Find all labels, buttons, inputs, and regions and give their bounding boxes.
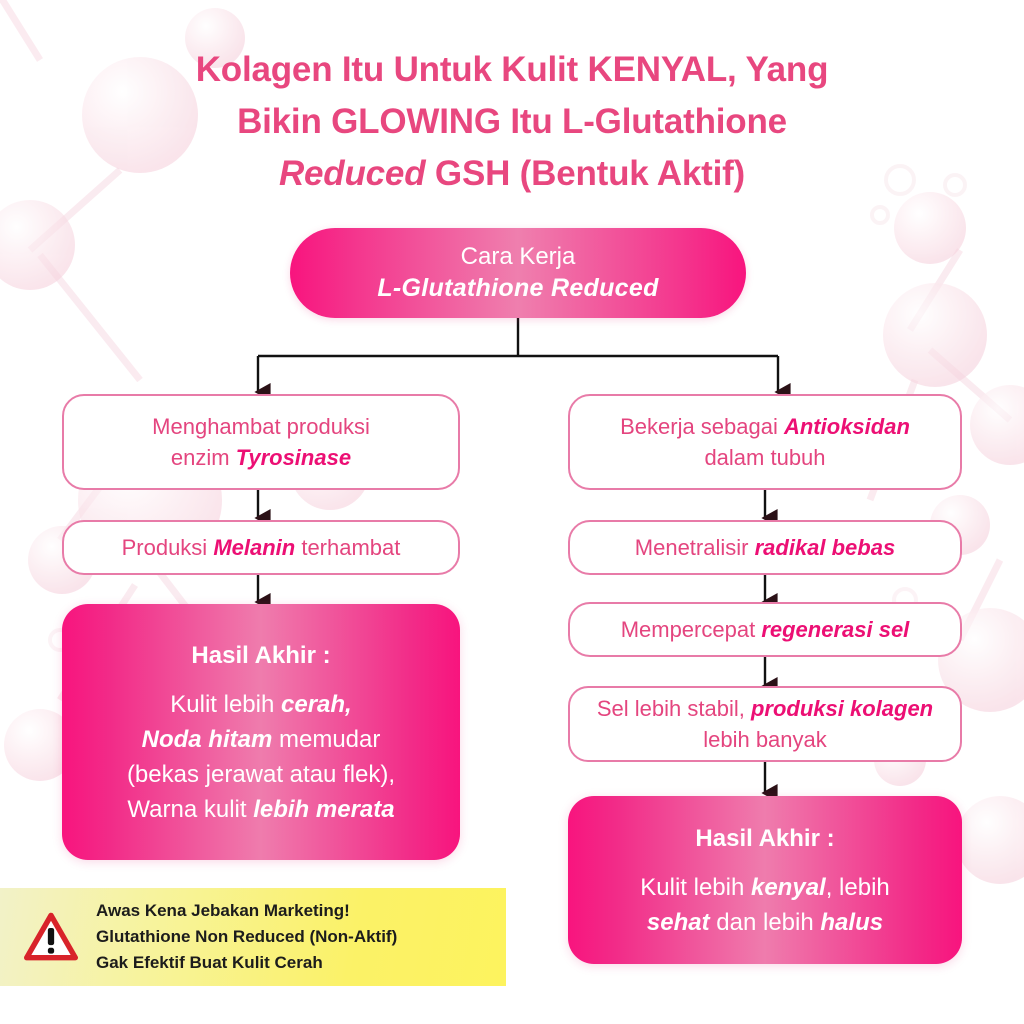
left-step-2-box[interactable]: Produksi Melanin terhambat bbox=[62, 520, 460, 575]
left-step-2-emphasis: Melanin bbox=[213, 535, 295, 560]
left-result-body: Kulit lebih cerah, Noda hitam memudar (b… bbox=[127, 687, 395, 827]
right-step-1-box[interactable]: Bekerja sebagai Antioksidan dalam tubuh bbox=[568, 394, 962, 490]
right-step-1-line2: dalam tubuh bbox=[704, 445, 825, 470]
left-result-l4b: lebih merata bbox=[253, 796, 394, 823]
left-result-l4a: Warna kulit bbox=[127, 796, 253, 823]
right-step-4-suffix: lebih banyak bbox=[703, 727, 827, 752]
title-emphasis-reduced: Reduced bbox=[279, 154, 425, 193]
right-result-l2a: sehat bbox=[647, 909, 710, 936]
right-step-4-prefix: Sel lebih stabil, bbox=[597, 696, 751, 721]
flow-header-line-1: Cara Kerja bbox=[461, 242, 576, 272]
flow-header-line-2: L-Glutathione Reduced bbox=[377, 272, 658, 304]
right-step-2-prefix: Menetralisir bbox=[635, 535, 755, 560]
right-step-1-emphasis: Antioksidan bbox=[784, 414, 910, 439]
right-step-2-emphasis: radikal bebas bbox=[755, 535, 896, 560]
title-line-1: Kolagen Itu Untuk Kulit KENYAL, Yang bbox=[0, 44, 1024, 96]
title-line-3-rest: GSH (Bentuk Aktif) bbox=[425, 154, 745, 193]
title-line-2: Bikin GLOWING Itu L-Glutathione bbox=[0, 96, 1024, 148]
right-result-l2c: halus bbox=[820, 909, 883, 936]
warning-line-3: Gak Efektif Buat Kulit Cerah bbox=[96, 950, 397, 976]
right-result-l2b: dan lebih bbox=[710, 909, 821, 936]
right-step-3-emphasis: regenerasi sel bbox=[761, 617, 909, 642]
right-step-2-box[interactable]: Menetralisir radikal bebas bbox=[568, 520, 962, 575]
left-step-1-box[interactable]: Menghambat produksi enzim Tyrosinase bbox=[62, 394, 460, 490]
left-result-l2b: memudar bbox=[272, 726, 380, 753]
right-step-1-text: Bekerja sebagai Antioksidan dalam tubuh bbox=[620, 411, 910, 473]
left-step-2-suffix: terhambat bbox=[295, 535, 400, 560]
flow-header-card[interactable]: Cara Kerja L-Glutathione Reduced bbox=[290, 228, 746, 318]
left-step-1-text: Menghambat produksi enzim Tyrosinase bbox=[152, 411, 370, 473]
right-result-box[interactable]: Hasil Akhir : Kulit lebih kenyal, lebih … bbox=[568, 796, 962, 964]
page-title: Kolagen Itu Untuk Kulit KENYAL, Yang Bik… bbox=[0, 44, 1024, 200]
right-step-3-prefix: Mempercepat bbox=[621, 617, 762, 642]
right-result-l1c: , lebih bbox=[826, 874, 890, 901]
right-step-2-text: Menetralisir radikal bebas bbox=[635, 532, 895, 563]
title-line-3: Reduced GSH (Bentuk Aktif) bbox=[0, 148, 1024, 200]
right-step-4-box[interactable]: Sel lebih stabil, produksi kolagen lebih… bbox=[568, 686, 962, 762]
left-step-2-text: Produksi Melanin terhambat bbox=[122, 532, 401, 563]
right-step-3-box[interactable]: Mempercepat regenerasi sel bbox=[568, 602, 962, 657]
right-step-4-text: Sel lebih stabil, produksi kolagen lebih… bbox=[584, 693, 946, 755]
left-result-heading: Hasil Akhir : bbox=[191, 638, 330, 673]
right-result-body: Kulit lebih kenyal, lebih sehat dan lebi… bbox=[640, 870, 890, 940]
marketing-warning-banner: Awas Kena Jebakan Marketing! Glutathione… bbox=[0, 888, 506, 986]
warning-line-1: Awas Kena Jebakan Marketing! bbox=[96, 898, 397, 924]
left-step-1-emphasis: Tyrosinase bbox=[236, 445, 351, 470]
left-step-1-line1: Menghambat produksi bbox=[152, 414, 370, 439]
left-result-l1a: Kulit lebih bbox=[170, 691, 281, 718]
left-step-2-prefix: Produksi bbox=[122, 535, 214, 560]
left-result-l2a: Noda hitam bbox=[142, 726, 273, 753]
right-step-4-emphasis: produksi kolagen bbox=[751, 696, 933, 721]
left-result-l1b: cerah, bbox=[281, 691, 352, 718]
warning-line-2: Glutathione Non Reduced (Non-Aktif) bbox=[96, 924, 397, 950]
right-result-l1b: kenyal bbox=[751, 874, 826, 901]
right-result-l1a: Kulit lebih bbox=[640, 874, 751, 901]
left-result-box[interactable]: Hasil Akhir : Kulit lebih cerah, Noda hi… bbox=[62, 604, 460, 860]
right-step-3-text: Mempercepat regenerasi sel bbox=[621, 614, 910, 645]
warning-text-block: Awas Kena Jebakan Marketing! Glutathione… bbox=[96, 898, 397, 976]
right-step-1-prefix: Bekerja sebagai bbox=[620, 414, 784, 439]
left-step-1-line2-plain: enzim bbox=[171, 445, 236, 470]
right-result-heading: Hasil Akhir : bbox=[695, 821, 834, 856]
warning-triangle-icon bbox=[24, 912, 78, 962]
left-result-l3: (bekas jerawat atau flek), bbox=[127, 761, 395, 788]
